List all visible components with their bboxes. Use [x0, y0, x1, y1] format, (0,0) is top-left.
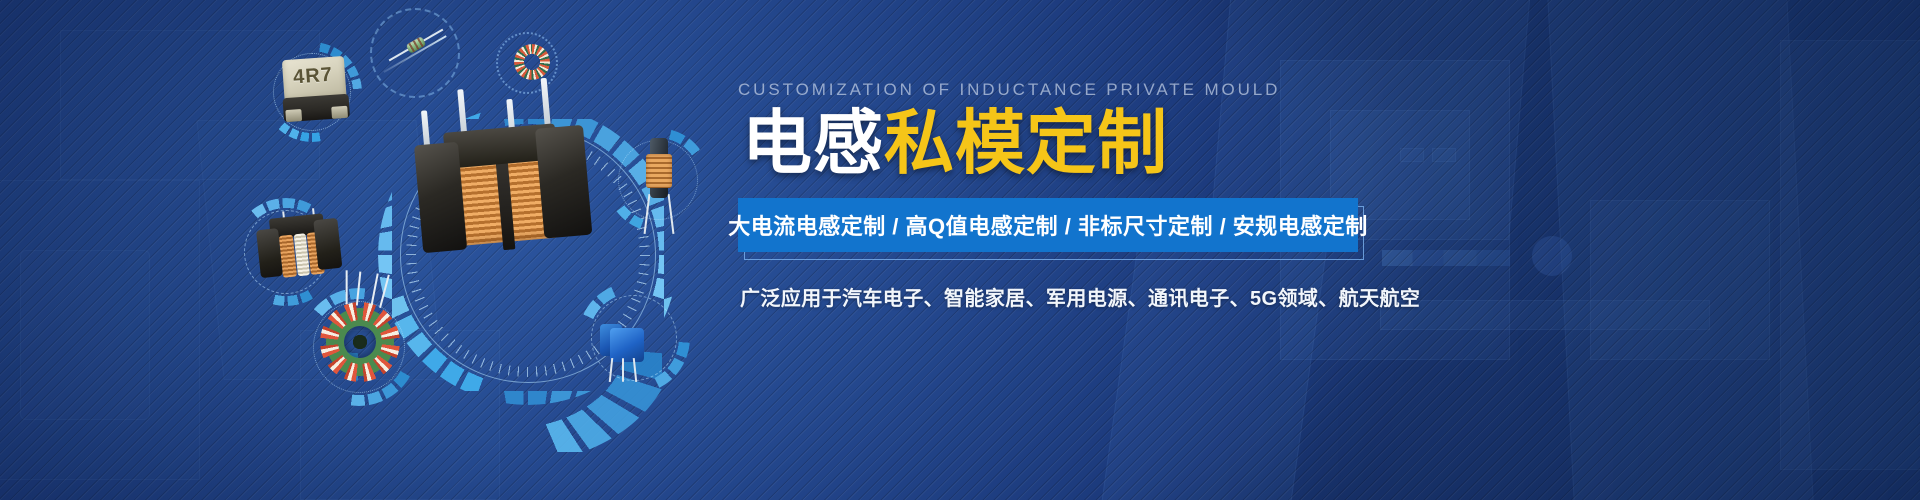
page-title: 电感私模定制	[742, 106, 1698, 182]
feature-bar-wrapper: 大电流电感定制 / 高Q值电感定制 / 非标尺寸定制 / 安规电感定制	[738, 198, 1358, 252]
feature-bar: 大电流电感定制 / 高Q值电感定制 / 非标尺寸定制 / 安规电感定制	[738, 198, 1358, 252]
product-banner: 4R7 CUSTOMIZATION OF INDUCTANCE PRIV	[0, 0, 1920, 500]
headline-part-gold: 私模定制	[884, 104, 1168, 182]
product-smd-power-inductor: 4R7	[280, 56, 350, 124]
product-rod-core-inductor	[634, 138, 684, 234]
eyebrow-english-tagline: CUSTOMIZATION OF INDUCTANCE PRIVATE MOUL…	[738, 80, 1698, 100]
banner-text-content: CUSTOMIZATION OF INDUCTANCE PRIVATE MOUL…	[738, 80, 1698, 311]
headline-part-white: 电感	[742, 104, 884, 182]
application-description: 广泛应用于汽车电子、智能家居、军用电源、通讯电子、5G领域、航天航空	[740, 282, 1698, 311]
product-large-common-mode-choke	[411, 101, 594, 275]
product-mini-toroid-inductor	[510, 40, 554, 84]
product-blue-radial-inductor	[596, 308, 652, 382]
product-toroidal-inductor	[314, 296, 406, 388]
product-small-common-mode-choke	[255, 208, 344, 286]
